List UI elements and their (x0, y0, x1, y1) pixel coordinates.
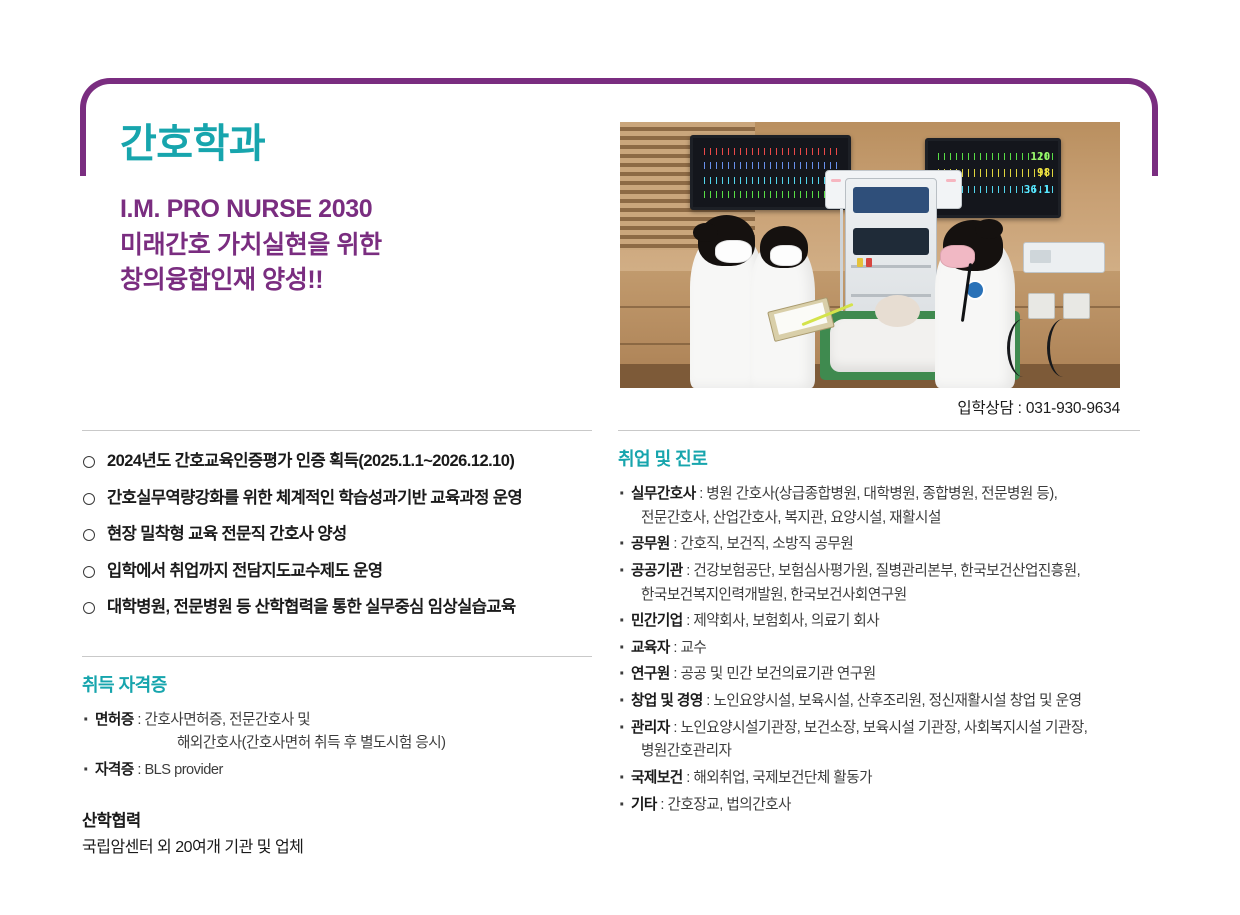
certificates-list: 면허증 : 간호사면허증, 전문간호사 및 해외간호사(간호사면허 취득 후 별… (82, 697, 592, 783)
divider (82, 656, 592, 657)
list-item: 연구원 : 공공 및 민간 보건의료기관 연구원 (618, 663, 1140, 687)
list-item: 교육자 : 교수 (618, 637, 1140, 661)
slogan-line-2: 미래간호 가치실현을 위한 (120, 228, 590, 264)
list-item: 민간기업 : 제약회사, 보험회사, 의료기 회사 (618, 610, 1140, 634)
item-label: 공무원 (631, 536, 670, 552)
photo-illustration: 120 98 36.1 (620, 122, 1120, 388)
page-title: 간호학과 (120, 122, 590, 166)
list-item: 실무간호사 : 병원 간호사(상급종합병원, 대학병원, 종합병원, 전문병원 … (618, 483, 1140, 530)
item-text: : 교수 (670, 640, 707, 656)
item-label: 연구원 (631, 666, 670, 682)
item-text: : 간호장교, 법의간호사 (657, 797, 791, 813)
list-item: 2024년도 간호교육인증평가 인증 획득(2025.1.1~2026.12.1… (82, 449, 592, 475)
item-continuation: 전문간호사, 산업간호사, 복지관, 요양시설, 재활시설 (631, 507, 1140, 531)
industry-heading: 산학협력 (82, 807, 592, 831)
item-label: 민간기업 (631, 613, 683, 629)
item-text: : BLS provider (134, 762, 223, 778)
item-text: : 해외취업, 국제보건단체 활동가 (683, 770, 872, 786)
list-item: 공공기관 : 건강보험공단, 보험심사평가원, 질병관리본부, 한국보건산업진흥… (618, 560, 1140, 607)
list-item: 국제보건 : 해외취업, 국제보건단체 활동가 (618, 767, 1140, 791)
list-item: 면허증 : 간호사면허증, 전문간호사 및 해외간호사(간호사면허 취득 후 별… (82, 709, 592, 756)
left-column: 2024년도 간호교육인증평가 인증 획득(2025.1.1~2026.12.1… (82, 430, 592, 857)
careers-list: 실무간호사 : 병원 간호사(상급종합병원, 대학병원, 종합병원, 전문병원 … (618, 471, 1140, 817)
list-item: 창업 및 경영 : 노인요양시설, 보육시설, 산후조리원, 정신재활시설 창업… (618, 690, 1140, 714)
item-continuation: 병원간호관리자 (631, 740, 1140, 764)
wall-outlet (1028, 293, 1055, 319)
face-mask (715, 240, 752, 263)
item-text: : 건강보험공단, 보험심사평가원, 질병관리본부, 한국보건산업진흥원, (683, 563, 1080, 579)
industry-text: 국립암센터 외 20여개 기관 및 업체 (82, 833, 592, 857)
certificates-heading: 취득 자격증 (82, 671, 592, 697)
list-item: 입학에서 취업까지 전담지도교수제도 운영 (82, 559, 592, 585)
brochure-page: 간호학과 I.M. PRO NURSE 2030 미래간호 가치실현을 위한 창… (0, 0, 1240, 915)
item-continuation: 해외간호사(간호사면허 취득 후 별도시험 응시) (95, 732, 592, 756)
list-item: 공무원 : 간호직, 보건직, 소방직 공무원 (618, 533, 1140, 557)
list-item: 대학병원, 전문병원 등 산학협력을 통한 실무중심 임상실습교육 (82, 595, 592, 621)
item-label: 국제보건 (631, 770, 683, 786)
item-label: 관리자 (631, 720, 670, 736)
simulation-lab-photo: 120 98 36.1 (620, 122, 1120, 388)
item-continuation: 한국보건복지인력개발원, 한국보건사회연구원 (631, 584, 1140, 608)
hair-bun (975, 219, 1003, 239)
power-cord (1047, 319, 1080, 378)
item-text: : 간호사면허증, 전문간호사 및 (134, 712, 310, 728)
list-item: 자격증 : BLS provider (82, 759, 592, 783)
list-item: 기타 : 간호장교, 법의간호사 (618, 794, 1140, 818)
list-item: 관리자 : 노인요양시설기관장, 보건소장, 보육시설 기관장, 사회복지시설 … (618, 717, 1140, 764)
item-text: : 노인요양시설기관장, 보건소장, 보육시설 기관장, 사회복지시설 기관장, (670, 720, 1088, 736)
item-text: : 공공 및 민간 보건의료기관 연구원 (670, 666, 876, 682)
careers-heading: 취업 및 진로 (618, 445, 1140, 471)
item-text: : 노인요양시설, 보육시설, 산후조리원, 정신재활시설 창업 및 운영 (703, 693, 1082, 709)
item-label: 면허증 (95, 712, 134, 728)
slogan-line-1: I.M. PRO NURSE 2030 (120, 192, 590, 228)
right-column: 취업 및 진로 실무간호사 : 병원 간호사(상급종합병원, 대학병원, 종합병… (618, 430, 1140, 820)
divider (618, 430, 1140, 431)
item-label: 창업 및 경영 (631, 693, 703, 709)
item-label: 실무간호사 (631, 486, 696, 502)
admissions-contact: 입학상담 : 031-930-9634 (620, 396, 1120, 418)
slogan-line-3: 창의융합인재 양성!! (120, 263, 590, 299)
slogan: I.M. PRO NURSE 2030 미래간호 가치실현을 위한 창의융합인재… (120, 192, 590, 299)
item-text: : 간호직, 보건직, 소방직 공무원 (670, 536, 854, 552)
wall-outlet (1063, 293, 1090, 319)
features-list: 2024년도 간호교육인증평가 인증 획득(2025.1.1~2026.12.1… (82, 431, 592, 621)
power-cord (1007, 319, 1040, 378)
list-item: 간호실무역량강화를 위한 체계적인 학습성과기반 교육과정 운영 (82, 486, 592, 512)
item-label: 기타 (631, 797, 657, 813)
item-text: : 병원 간호사(상급종합병원, 대학병원, 종합병원, 전문병원 등), (696, 486, 1058, 502)
list-item: 현장 밀착형 교육 전문직 간호사 양성 (82, 522, 592, 548)
hair-bun (693, 223, 718, 242)
headline-block: 간호학과 I.M. PRO NURSE 2030 미래간호 가치실현을 위한 창… (120, 122, 590, 299)
item-label: 자격증 (95, 762, 134, 778)
face-mask (770, 245, 802, 266)
item-label: 교육자 (631, 640, 670, 656)
item-label: 공공기관 (631, 563, 683, 579)
mannequin-head (875, 295, 920, 327)
item-text: : 제약회사, 보험회사, 의료기 회사 (683, 613, 879, 629)
infusion-pump (1023, 242, 1105, 273)
